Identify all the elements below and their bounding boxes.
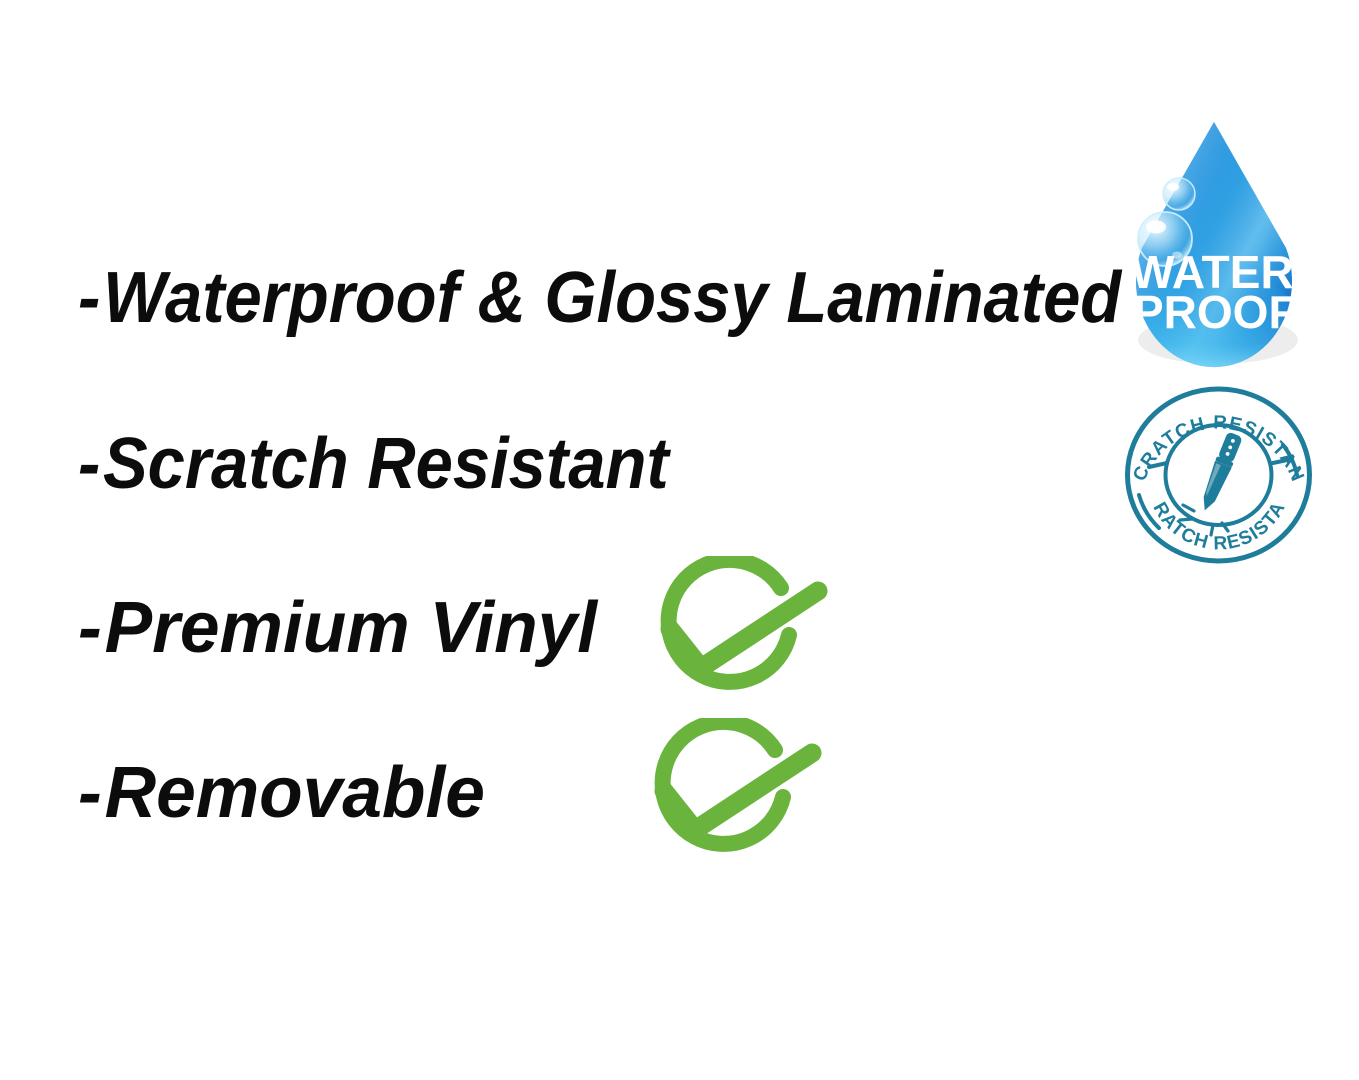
check-circle-1: [638, 556, 838, 716]
bullet-dash: -: [78, 588, 105, 668]
bullet-dash: -: [78, 753, 105, 833]
bullet-dash: -: [78, 258, 103, 338]
waterproof-badge: WATER PROOF: [1103, 108, 1325, 370]
feature-label: Waterproof & Glossy Laminated: [103, 258, 1121, 338]
feature-item-removable: -Removable: [78, 757, 485, 829]
bubble-icon: [1163, 178, 1195, 210]
feature-label: Premium Vinyl: [105, 588, 598, 668]
check-tick: [664, 753, 812, 830]
feature-item-scratch-resistant: -Scratch Resistant: [78, 428, 669, 500]
feature-label: Removable: [105, 753, 485, 833]
check-circle-2: [632, 718, 832, 878]
feature-label: Scratch Resistant: [103, 424, 669, 504]
scratch-resistant-badge: SCRATCH RESISTANT SCRATCH RESISTANT: [1121, 383, 1316, 568]
knife-icon: [1196, 431, 1243, 514]
product-features-graphic: -Waterproof & Glossy Laminated -Scratch …: [0, 0, 1359, 1080]
bullet-dash: -: [78, 424, 103, 504]
waterproof-line2: PROOF: [1133, 286, 1297, 338]
feature-item-waterproof-glossy-laminated: -Waterproof & Glossy Laminated: [78, 262, 1121, 334]
feature-item-premium-vinyl: -Premium Vinyl: [78, 592, 597, 664]
check-tick: [670, 591, 818, 668]
